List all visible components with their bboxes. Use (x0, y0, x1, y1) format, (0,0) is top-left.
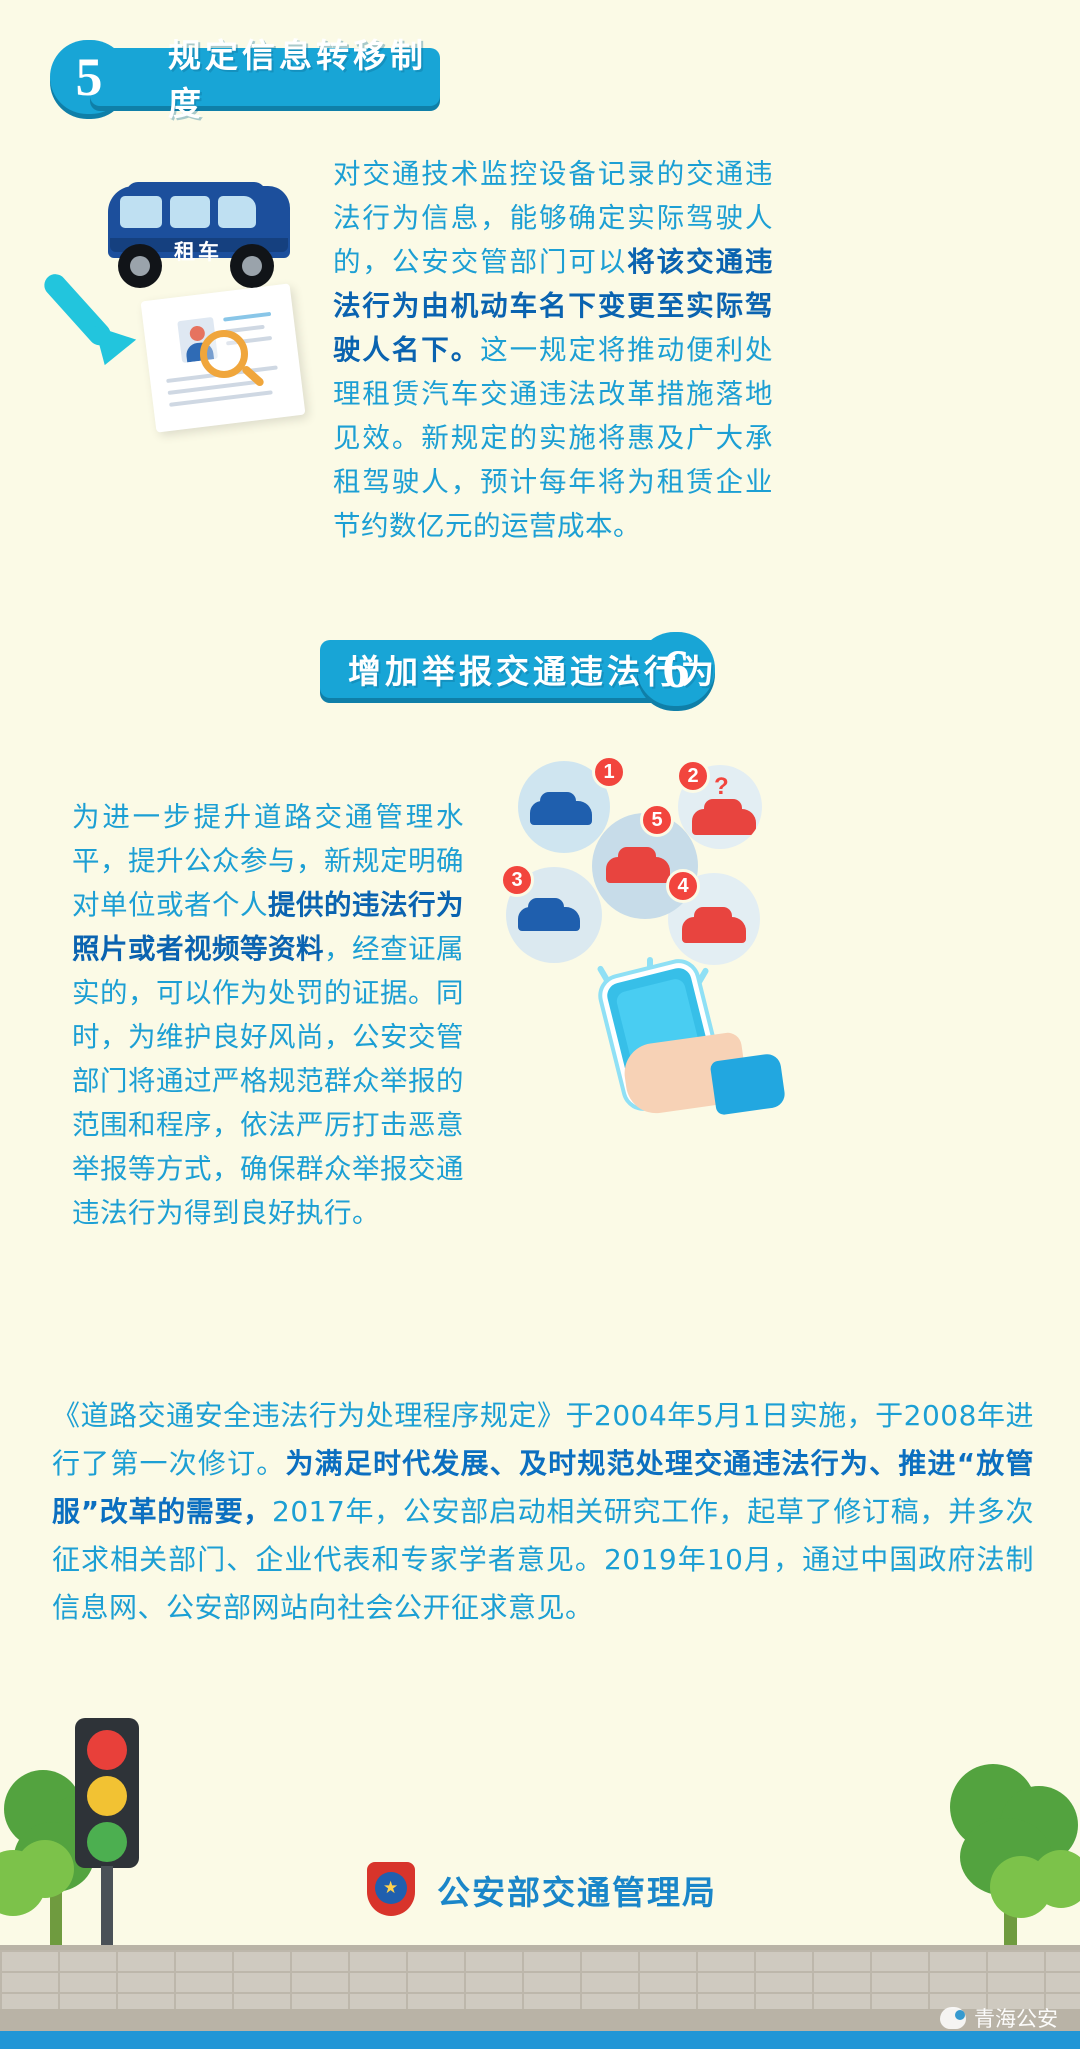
arrow-head (84, 326, 136, 372)
section-body-6: 为进一步提升道路交通管理水平，提升公众参与，新规定明确对单位或者个人提供的违法行… (72, 795, 464, 1235)
badge-1: 1 (592, 755, 626, 789)
badge-5: 5 (640, 803, 674, 837)
curved-arrow-icon (42, 258, 157, 368)
footer: ★ 公安部交通管理局 (0, 1855, 1080, 1925)
car-icon (606, 857, 670, 883)
phone-reporting-illustration (595, 965, 785, 1135)
section-number-6: 6 (637, 632, 715, 706)
magnifier-ring (200, 330, 248, 378)
van-window (120, 196, 162, 228)
police-emblem-icon: ★ (363, 1860, 419, 1920)
traffic-light-red (87, 1730, 127, 1770)
car-icon (682, 917, 746, 943)
section-body-5: 对交通技术监控设备记录的交通违法行为信息，能够确定实际驾驶人的，公安交管部门可以… (333, 152, 773, 548)
brick-pattern (0, 1950, 1080, 2014)
section-header-6: 增加举报交通违法行为 6 (320, 640, 720, 702)
brick-wall (0, 1945, 1080, 2009)
emblem-star: ★ (383, 1878, 398, 1898)
badge-2: 2 (676, 759, 710, 793)
infographic-page: 5 规定信息转移制度 租车 对交通技术监控设备记录的交通违法行为信息，能够确定 (0, 0, 1080, 2049)
sleeve-cuff (710, 1052, 787, 1115)
magnifier-handle (241, 364, 266, 387)
car-icon (530, 801, 592, 825)
closing-paragraph: 《道路交通安全违法行为处理程序规定》于2004年5月1日实施，于2008年进行了… (52, 1392, 1034, 1632)
section-header-5: 5 规定信息转移制度 (50, 48, 450, 110)
doc-line (223, 312, 271, 322)
water-band (0, 2031, 1080, 2049)
magnifier-icon (200, 330, 268, 398)
section-number-5: 5 (50, 40, 128, 114)
traffic-light-yellow (87, 1776, 127, 1816)
weibo-icon (940, 2007, 966, 2029)
van-window (218, 196, 256, 228)
agency-name: 公安部交通管理局 (437, 1866, 717, 1914)
van-wheel (230, 244, 274, 288)
van-window (170, 196, 210, 228)
weibo-watermark: 青海公安 (940, 2003, 1058, 2033)
badge-4: 4 (666, 869, 700, 903)
section-title-5: 规定信息转移制度 (168, 48, 450, 106)
badge-3: 3 (500, 863, 534, 897)
car-icon (692, 809, 756, 835)
car-icon (518, 907, 580, 931)
question-mark-icon: ? (714, 773, 729, 801)
wall-base-strip (0, 2009, 1080, 2031)
violation-report-cluster: 1 2 3 4 5 ? (500, 755, 800, 975)
weibo-account-name: 青海公安 (974, 2003, 1058, 2033)
